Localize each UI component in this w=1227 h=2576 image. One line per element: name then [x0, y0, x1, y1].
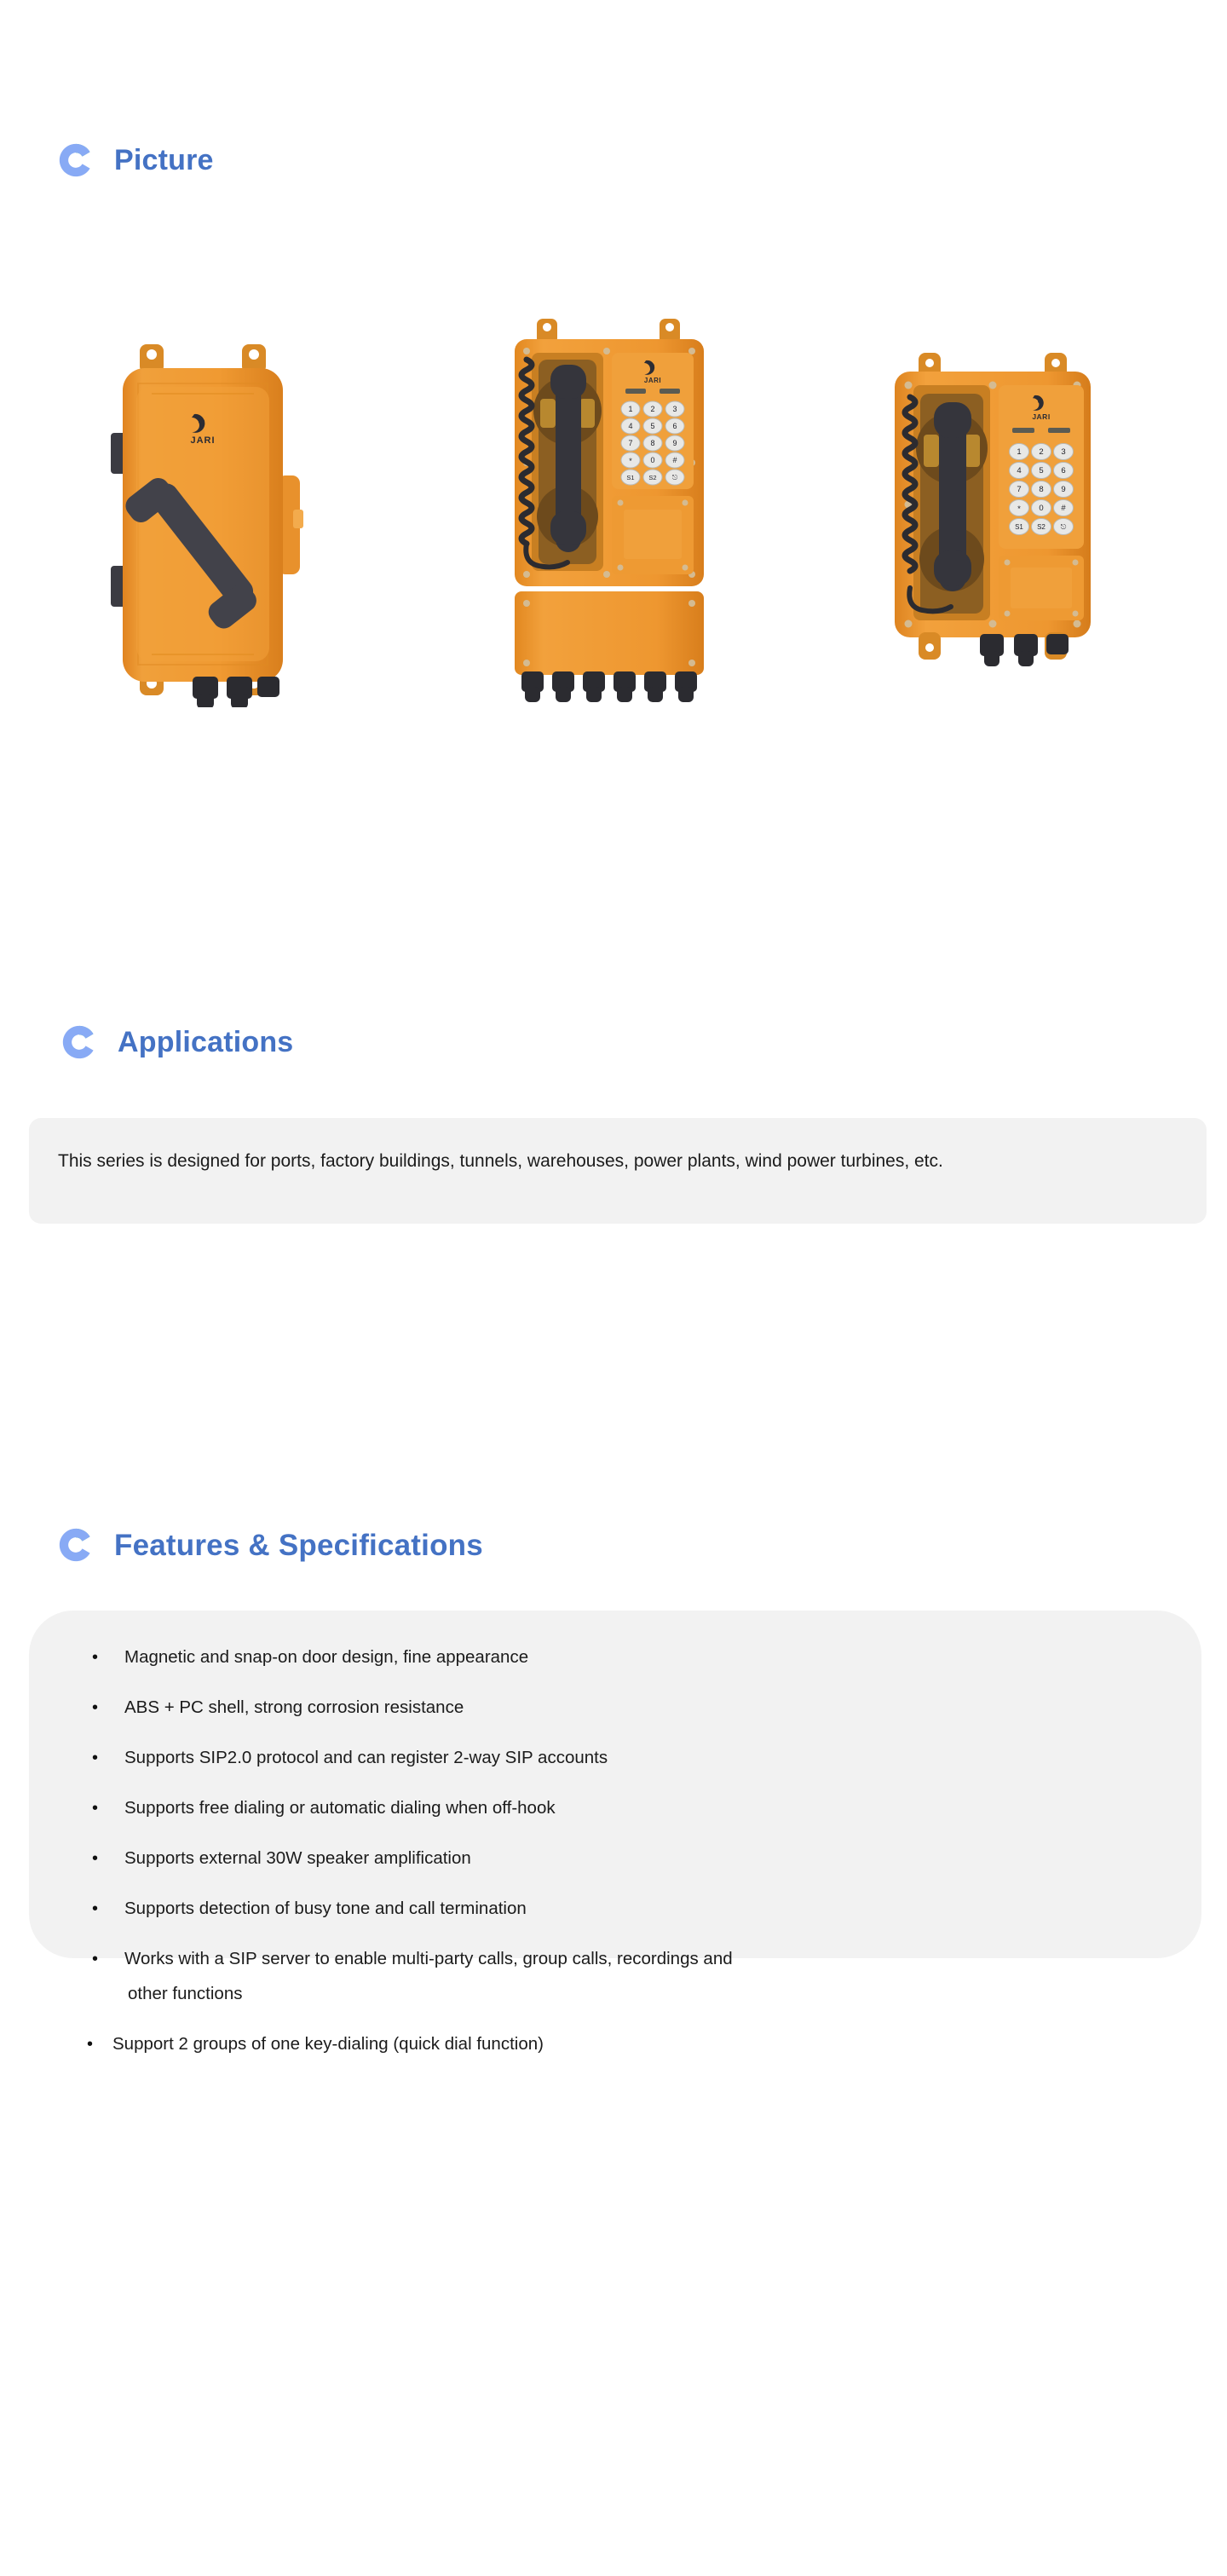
svg-text:*: *: [629, 457, 632, 465]
list-item: • Supports free dialing or automatic dia…: [85, 1795, 1167, 1821]
section-header-applications: Applications: [60, 1023, 293, 1062]
product-image-phone-keypad: JARI 123 456 789 *0# S1S2 ⎋: [879, 322, 1108, 706]
features-card: • Magnetic and snap-on door design, fine…: [29, 1611, 1201, 1958]
c-ring-logo-icon: [60, 1023, 99, 1062]
list-item: • Magnetic and snap-on door design, fine…: [85, 1645, 1167, 1670]
c-ring-logo-icon: [56, 141, 95, 180]
svg-text:8: 8: [650, 439, 654, 447]
section-header-picture: Picture: [56, 141, 214, 180]
svg-text:6: 6: [1061, 466, 1065, 475]
svg-text:*: *: [1017, 504, 1021, 514]
section-header-features: Features & Specifications: [56, 1525, 483, 1565]
svg-text:2: 2: [1039, 447, 1043, 457]
svg-text:JARI: JARI: [190, 435, 215, 446]
svg-text:S1: S1: [626, 474, 634, 481]
svg-text:8: 8: [1039, 485, 1043, 494]
svg-text:5: 5: [650, 422, 654, 430]
list-item-label: Support 2 groups of one key-dialing (qui…: [112, 2034, 544, 2054]
list-item: • Supports SIP2.0 protocol and can regis…: [85, 1745, 1167, 1771]
svg-text:#: #: [1061, 504, 1066, 513]
svg-text:9: 9: [672, 439, 677, 447]
svg-text:S2: S2: [1037, 523, 1046, 531]
bullet-glyph: •: [92, 1946, 98, 1972]
list-item: • ABS + PC shell, strong corrosion resis…: [85, 1695, 1167, 1720]
applications-card: This series is designed for ports, facto…: [29, 1118, 1207, 1224]
svg-text:#: #: [672, 456, 677, 464]
bullet-glyph: •: [92, 1896, 98, 1922]
applications-body-text: This series is designed for ports, facto…: [58, 1144, 1176, 1179]
svg-text:7: 7: [1017, 485, 1021, 494]
c-ring-logo-icon: [56, 1525, 95, 1565]
svg-text:S2: S2: [648, 474, 656, 481]
list-item-label: Supports SIP2.0 protocol and can registe…: [124, 1748, 608, 1767]
bullet-glyph: •: [87, 2031, 93, 2057]
svg-text:7: 7: [628, 439, 632, 447]
svg-text:S1: S1: [1015, 523, 1023, 531]
bullet-glyph: •: [92, 1846, 98, 1871]
list-item-label: Supports free dialing or automatic diali…: [124, 1798, 556, 1818]
list-item: • Support 2 groups of one key-dialing (q…: [85, 2031, 1167, 2057]
svg-text:⎋: ⎋: [1061, 522, 1067, 531]
bullet-glyph: •: [92, 1695, 98, 1720]
svg-text:3: 3: [1061, 447, 1065, 457]
svg-text:3: 3: [672, 405, 677, 413]
list-item-label: Magnetic and snap-on door design, fine a…: [124, 1647, 528, 1667]
list-item-label: Works with a SIP server to enable multi-…: [124, 1949, 733, 1968]
bullet-glyph: •: [92, 1745, 98, 1771]
list-item: • Supports detection of busy tone and ca…: [85, 1896, 1167, 1922]
list-item-label: Supports external 30W speaker amplificat…: [124, 1848, 471, 1868]
svg-text:0: 0: [650, 456, 654, 464]
svg-text:⎋: ⎋: [672, 474, 678, 481]
bullet-glyph: •: [92, 1645, 98, 1670]
list-item: • Supports external 30W speaker amplific…: [85, 1846, 1167, 1871]
svg-text:1: 1: [1017, 447, 1021, 457]
svg-text:4: 4: [1017, 466, 1021, 475]
svg-text:JARI: JARI: [1032, 412, 1050, 421]
section-title-features: Features & Specifications: [114, 1530, 483, 1560]
svg-text:0: 0: [1039, 504, 1043, 513]
svg-text:2: 2: [650, 405, 654, 413]
svg-text:4: 4: [628, 422, 632, 430]
list-item-label: ABS + PC shell, strong corrosion resista…: [124, 1697, 464, 1717]
svg-text:9: 9: [1061, 485, 1065, 494]
svg-text:JARI: JARI: [644, 377, 661, 384]
product-image-phone-with-junction-box: JARI 123 456 789 *0# S1S2: [501, 315, 726, 716]
list-item: • Works with a SIP server to enable mult…: [85, 1946, 1167, 2007]
product-image-closed-enclosure: JARI: [101, 332, 305, 707]
features-list: • Magnetic and snap-on door design, fine…: [85, 1645, 1167, 2057]
page-title: Picture: [114, 146, 214, 175]
product-image-row: JARI: [0, 315, 1227, 741]
list-item-label-continuation: other functions: [124, 1981, 1167, 2007]
list-item-label: Supports detection of busy tone and call…: [124, 1899, 527, 1918]
bullet-glyph: •: [92, 1795, 98, 1821]
section-title-applications: Applications: [118, 1028, 293, 1057]
svg-text:6: 6: [672, 422, 677, 430]
svg-text:5: 5: [1039, 466, 1043, 475]
svg-text:1: 1: [628, 405, 632, 413]
